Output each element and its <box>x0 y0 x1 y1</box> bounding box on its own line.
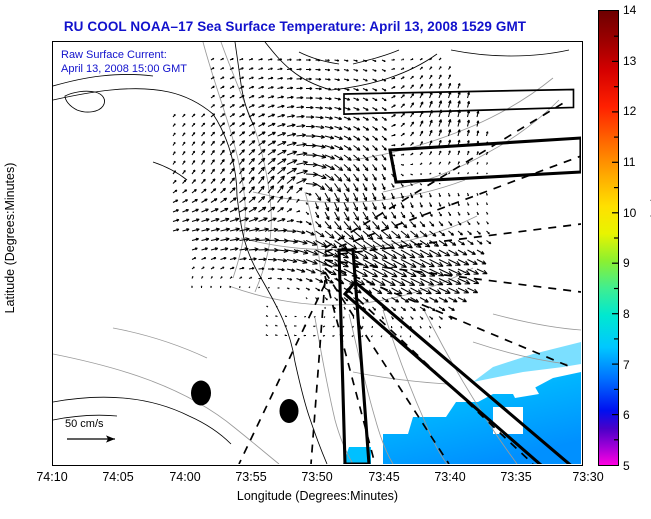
y-axis-label-wrap: Latitude (Degrees:Minutes) <box>0 41 16 466</box>
map-svg <box>53 42 581 464</box>
y-axis-label: Latitude (Degrees:Minutes) <box>3 132 17 344</box>
colorbar-tick-label: 8 <box>623 307 630 321</box>
x-tick-label: 74:05 <box>102 470 133 484</box>
x-tick-label: 73:45 <box>368 470 399 484</box>
radar-site-marker[interactable] <box>280 399 299 423</box>
colorbar[interactable] <box>598 10 619 466</box>
x-tick-label: 73:35 <box>500 470 531 484</box>
map-plot-area[interactable]: Raw Surface Current: April 13, 2008 15:0… <box>52 41 583 466</box>
x-axis-label: Longitude (Degrees:Minutes) <box>52 489 583 503</box>
x-tick-label: 73:30 <box>572 470 603 484</box>
x-tick-label: 74:00 <box>169 470 200 484</box>
colorbar-tick-label: 5 <box>623 459 630 473</box>
radar-site-marker[interactable] <box>191 381 211 406</box>
colorbar-tick-label: 9 <box>623 256 630 270</box>
vector-scale-arrow-icon <box>65 430 123 446</box>
annotation-line-2: April 13, 2008 15:00 GMT <box>61 62 187 76</box>
colorbar-tick-label: 10 <box>623 206 636 220</box>
vector-scale-label: 50 cm/s <box>65 418 123 430</box>
colorbar-tick-label: 12 <box>623 104 636 118</box>
plot-annotation: Raw Surface Current: April 13, 2008 15:0… <box>61 48 187 76</box>
annotation-line-1: Raw Surface Current: <box>61 48 187 62</box>
colorbar-gradient <box>599 11 618 465</box>
x-tick-label: 74:10 <box>36 470 67 484</box>
radar-site-markers[interactable] <box>191 381 299 424</box>
x-tick-label: 73:40 <box>434 470 465 484</box>
figure-title: RU COOL NOAA–17 Sea Surface Temperature:… <box>0 19 590 34</box>
colorbar-tick-label: 14 <box>623 3 636 17</box>
colorbar-tick-label: 6 <box>623 408 630 422</box>
figure-canvas: RU COOL NOAA–17 Sea Surface Temperature:… <box>0 0 651 519</box>
vector-scale-legend: 50 cm/s <box>65 418 123 446</box>
colorbar-tick-label: 11 <box>623 155 635 169</box>
colorbar-tick-label: 7 <box>623 358 630 372</box>
colorbar-tick-label: 13 <box>623 54 636 68</box>
x-tick-label: 73:50 <box>301 470 332 484</box>
x-tick-label: 73:55 <box>235 470 266 484</box>
